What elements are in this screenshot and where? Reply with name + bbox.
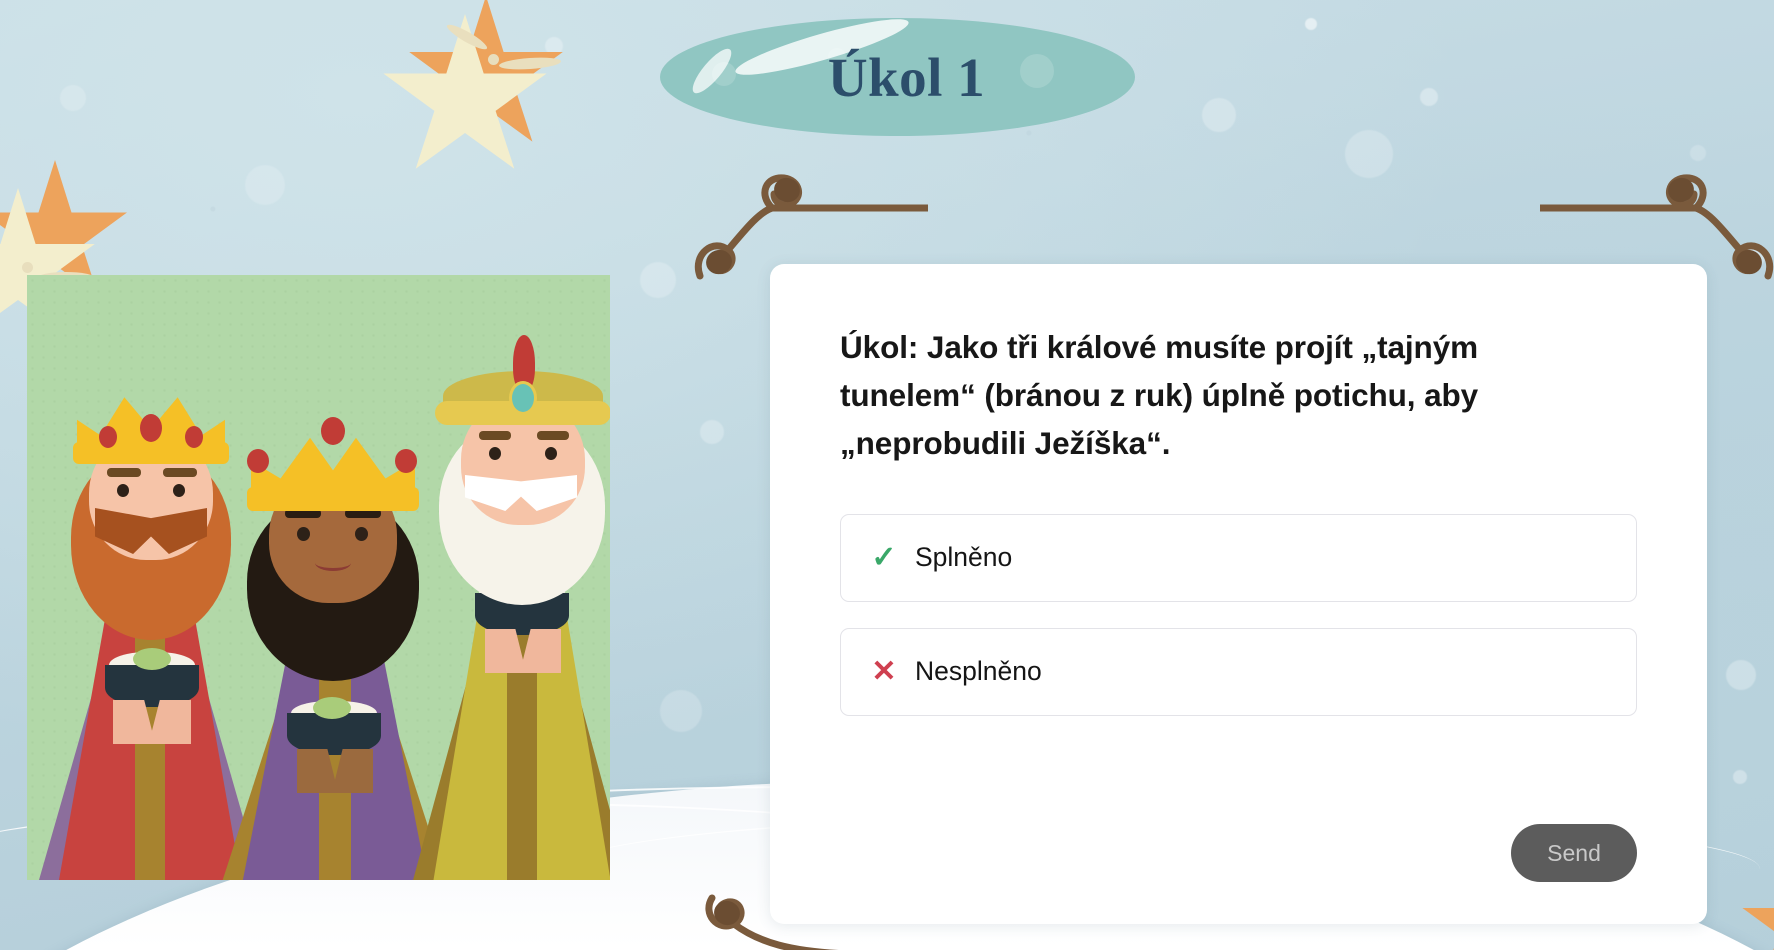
king-eye: [173, 484, 185, 497]
star-dot: [22, 262, 33, 273]
king-gold: [407, 343, 610, 880]
bokeh-circle: [1726, 660, 1756, 690]
page-title: Úkol 1: [660, 18, 1135, 136]
bokeh-circle: [1345, 130, 1393, 178]
page-root: Úkol 1: [0, 0, 1774, 950]
bokeh-circle: [640, 262, 676, 298]
bokeh-circle: [1305, 18, 1317, 30]
bokeh-circle: [1202, 98, 1236, 132]
send-row: Send: [1511, 824, 1637, 882]
king-eye: [117, 484, 129, 497]
options-list: ✓ Splněno ✕ Nesplněno: [840, 514, 1637, 716]
king-brow: [163, 468, 197, 477]
star-dot: [488, 54, 499, 65]
option-nesplneno[interactable]: ✕ Nesplněno: [840, 628, 1637, 716]
king-eye: [545, 447, 557, 460]
king-crown-band: [73, 442, 229, 464]
bokeh-circle: [660, 690, 702, 732]
bokeh-circle: [245, 165, 285, 205]
bokeh-circle: [1690, 145, 1706, 161]
gift-leaf: [313, 697, 351, 719]
option-splneno[interactable]: ✓ Splněno: [840, 514, 1637, 602]
gift-leaf: [133, 648, 171, 670]
bokeh-circle: [60, 85, 86, 111]
question-card: Úkol: Jako tři králové musíte projít „ta…: [770, 264, 1707, 924]
turban-jewel: [509, 381, 537, 415]
king-eye: [355, 527, 368, 541]
cross-icon: ✕: [871, 657, 897, 687]
question-text: Úkol: Jako tři králové musíte projít „ta…: [840, 324, 1600, 468]
king-brow: [537, 431, 569, 440]
option-label: Splněno: [915, 542, 1012, 573]
bokeh-circle: [1420, 88, 1438, 106]
crown-jewel: [185, 426, 203, 448]
option-label: Nesplněno: [915, 656, 1042, 687]
crown-jewel: [321, 417, 345, 445]
king-eye: [489, 447, 501, 460]
king-brow: [479, 431, 511, 440]
gift-bowl: [287, 713, 381, 755]
check-icon: ✓: [871, 543, 897, 573]
bokeh-circle: [700, 420, 724, 444]
three-kings-illustration: [27, 275, 610, 880]
king-mouth: [315, 555, 351, 571]
crown-jewel: [140, 414, 162, 442]
send-button[interactable]: Send: [1511, 824, 1637, 882]
crown-jewel: [247, 449, 269, 473]
crown-jewel: [99, 426, 117, 448]
king-brow: [107, 468, 141, 477]
king-eye: [297, 527, 310, 541]
page-title-pill: Úkol 1: [660, 18, 1135, 136]
bokeh-circle: [1733, 770, 1747, 784]
king-crown-band: [247, 487, 419, 511]
